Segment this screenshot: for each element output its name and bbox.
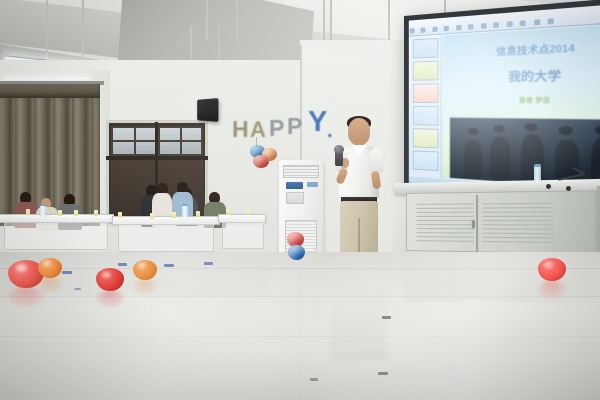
floor-debris (378, 372, 388, 375)
current-slide: 信息技术点2014 我的大学 青春 梦想 (443, 23, 600, 191)
cup (94, 210, 98, 216)
toolbar-icon (534, 19, 540, 25)
light-rod (236, 0, 238, 44)
toolbar-icon (468, 24, 473, 30)
photo-figure (559, 126, 573, 135)
balloon-red (253, 155, 269, 168)
confetti (62, 271, 72, 274)
cup (150, 213, 154, 219)
balloon-reflection (538, 280, 566, 298)
photo-figure (467, 127, 479, 135)
photograph-classroom-presentation: H A P P Y . (0, 0, 600, 400)
balloon-ac-blue (288, 245, 305, 260)
toolbar-icon (520, 20, 526, 26)
light-rod (206, 0, 208, 40)
ac-reflection (279, 268, 323, 320)
toolbar-icon (421, 27, 426, 32)
slide-thumbnail[interactable] (413, 128, 439, 148)
curtain-header (0, 84, 100, 98)
slide-title-line2: 我的大学 (443, 63, 600, 86)
wall-speaker-icon (197, 98, 218, 122)
happy-letter-y: Y (308, 106, 327, 139)
slide-thumbnail[interactable] (413, 38, 439, 59)
console-knob[interactable] (546, 184, 551, 189)
toolbar-icon (410, 28, 415, 33)
slide-thumbnail[interactable] (413, 83, 439, 103)
cup (58, 210, 62, 216)
toolbar-icon (456, 25, 461, 31)
slide-thumbnail[interactable] (413, 61, 439, 81)
photo-figure (525, 123, 538, 132)
slide-thumbnail[interactable] (413, 150, 439, 171)
photo-figure (493, 124, 505, 132)
table-front-panel (222, 222, 264, 249)
table-front-panel (4, 222, 108, 250)
cup (74, 210, 78, 216)
toolbar-icon (432, 27, 437, 32)
table-front-panel (118, 224, 214, 252)
confetti (74, 288, 81, 290)
slide-thumbnail-panel[interactable] (411, 35, 442, 180)
toolbar-icon (493, 22, 499, 28)
slide-subtitle: 青春 梦想 (443, 94, 600, 105)
ac-display-panel[interactable] (286, 182, 303, 189)
photo-figure (464, 140, 482, 178)
photo-figure (595, 125, 600, 134)
slide-title-line1: 信息技术点2014 (443, 36, 600, 60)
floor-debris (382, 316, 391, 319)
toolbar-icon (507, 21, 513, 27)
happy-letter-a: A (250, 117, 266, 143)
cup (26, 209, 30, 215)
floor-debris (310, 378, 318, 381)
happy-letter-p2: P (287, 113, 302, 140)
confetti (204, 262, 213, 265)
lecture-console[interactable] (404, 179, 600, 259)
slide-thumbnail[interactable] (413, 106, 439, 126)
balloon-reflection (96, 290, 124, 307)
console-vent (482, 203, 553, 244)
light-rod (388, 0, 390, 44)
console-vent (417, 203, 474, 243)
happy-letter-p1: P (269, 115, 284, 142)
balloon-reflection (8, 287, 44, 307)
cabinet-door-seam (476, 195, 478, 251)
happy-letter-h: H (232, 116, 249, 143)
confetti (164, 264, 174, 267)
light-rod (46, 0, 48, 60)
toolbar-icon (481, 23, 487, 29)
balloon-string (256, 137, 257, 147)
balloon-floor-red-3 (538, 258, 566, 281)
photo-figure (489, 136, 510, 180)
console-knob[interactable] (566, 186, 571, 191)
toolbar-icon (548, 18, 554, 24)
cup (226, 209, 230, 215)
podium-reflection (404, 255, 594, 301)
ac-brand-logo (307, 182, 318, 187)
balloon-floor-orange-1 (38, 258, 62, 278)
console-cabinet[interactable] (406, 190, 597, 254)
water-bottle (182, 204, 188, 218)
ac-control-panel[interactable] (286, 192, 304, 204)
confetti (118, 263, 127, 266)
light-rod (82, 0, 84, 64)
cup (196, 211, 200, 217)
happy-balloon-sign: H A P P Y . (232, 112, 342, 148)
presenter-head (348, 118, 370, 145)
balloon-floor-red-2 (96, 268, 124, 291)
balloon-reflection (133, 279, 157, 294)
water-bottle (534, 164, 541, 183)
balloon-floor-orange-2 (133, 260, 157, 280)
toolbar-icon (444, 26, 449, 32)
cup (172, 212, 176, 218)
presenter-reflection (331, 278, 387, 360)
cabinet-handle[interactable] (472, 220, 475, 228)
cup (246, 209, 250, 215)
microphone-head-icon (334, 145, 344, 154)
cup (118, 212, 122, 218)
ac-air-grille (283, 165, 319, 178)
water-bottle (40, 204, 46, 218)
